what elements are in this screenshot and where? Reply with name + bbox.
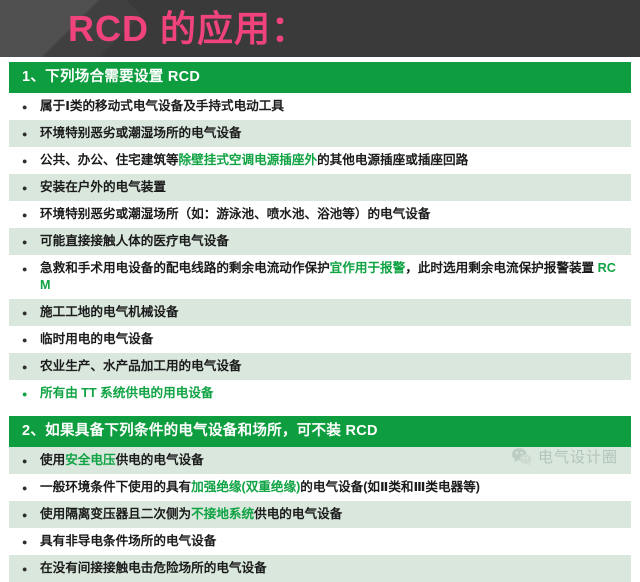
bullet-icon: ● xyxy=(22,211,36,220)
plain-text: 公共、办公、住宅建筑等 xyxy=(40,153,179,167)
bullet-icon: ● xyxy=(22,363,36,372)
bullet-icon: ● xyxy=(22,130,36,139)
list-item-text: 环境特别恶劣或潮湿场所的电气设备 xyxy=(40,125,621,142)
plain-text: 一般环境条件下使用的具有 xyxy=(40,480,191,494)
list-item[interactable]: ●施工工地的电气机械设备 xyxy=(9,299,631,326)
list-item-text: 临时用电的电气设备 xyxy=(40,331,621,348)
title-band: RCD 的应用： xyxy=(0,0,640,57)
highlighted-text: 安全电压 xyxy=(65,453,115,467)
plain-text: 供电的电气设备 xyxy=(254,507,342,521)
plain-text: 具有非导电条件场所的电气设备 xyxy=(40,534,216,548)
bullet-icon: ● xyxy=(22,390,36,399)
plain-text: 安装在户外的电气装置 xyxy=(40,180,166,194)
list-item[interactable]: ●使用隔离变压器且二次侧为不接地系统供电的电气设备 xyxy=(9,501,631,528)
plain-text: 的电气设备(如Ⅱ类和Ⅲ类电器等) xyxy=(300,480,480,494)
list-item-text: 使用安全电压供电的电气设备 xyxy=(40,452,621,469)
list-item[interactable]: ●环境特别恶劣或潮湿场所的电气设备 xyxy=(9,120,631,147)
bullet-icon: ● xyxy=(22,238,36,247)
section-2-list: ●使用安全电压供电的电气设备●一般环境条件下使用的具有加强绝缘(双重绝缘)的电气… xyxy=(9,447,631,582)
plain-text: 属于Ⅰ类的移动式电气设备及手持式电动工具 xyxy=(40,99,284,113)
list-item[interactable]: ●安装在户外的电气装置 xyxy=(9,174,631,201)
bullet-icon: ● xyxy=(22,184,36,193)
list-item[interactable]: ●具有非导电条件场所的电气设备 xyxy=(9,528,631,555)
list-item-text: 公共、办公、住宅建筑等除壁挂式空调电源插座外的其他电源插座或插座回路 xyxy=(40,152,621,169)
list-item-text: 一般环境条件下使用的具有加强绝缘(双重绝缘)的电气设备(如Ⅱ类和Ⅲ类电器等) xyxy=(40,479,621,496)
list-item[interactable]: ●在没有间接接触电击危险场所的电气设备 xyxy=(9,555,631,582)
highlighted-text: 宜作用于报警 xyxy=(330,261,406,275)
list-item[interactable]: ●所有由 TT 系统供电的用电设备 xyxy=(9,380,631,407)
list-item[interactable]: ●临时用电的电气设备 xyxy=(9,326,631,353)
plain-text: 可能直接接触人体的医疗电气设备 xyxy=(40,234,229,248)
bullet-icon: ● xyxy=(22,538,36,547)
list-item-text: 可能直接接触人体的医疗电气设备 xyxy=(40,233,621,250)
bullet-icon: ● xyxy=(22,565,36,574)
plain-text: 环境特别恶劣或潮湿场所（如：游泳池、喷水池、浴池等）的电气设备 xyxy=(40,207,430,221)
list-item-text: 安装在户外的电气装置 xyxy=(40,179,621,196)
list-item-text: 在没有间接接触电击危险场所的电气设备 xyxy=(40,560,621,577)
bullet-icon: ● xyxy=(22,511,36,520)
plain-text: 临时用电的电气设备 xyxy=(40,332,153,346)
plain-text: 的其他电源插座或插座回路 xyxy=(317,153,468,167)
plain-text: 施工工地的电气机械设备 xyxy=(40,305,179,319)
list-item[interactable]: ●急救和手术用电设备的配电线路的剩余电流动作保护宜作用于报警，此时选用剩余电流保… xyxy=(9,255,631,299)
list-item-text: 属于Ⅰ类的移动式电气设备及手持式电动工具 xyxy=(40,98,621,115)
page-title: RCD 的应用： xyxy=(68,2,308,56)
list-item[interactable]: ●农业生产、水产品加工用的电气设备 xyxy=(9,353,631,380)
plain-text: 急救和手术用电设备的配电线路的剩余电流动作保护 xyxy=(40,261,330,275)
plain-text: 供电的电气设备 xyxy=(116,453,204,467)
list-item[interactable]: ●属于Ⅰ类的移动式电气设备及手持式电动工具 xyxy=(9,93,631,120)
list-item[interactable]: ●使用安全电压供电的电气设备 xyxy=(9,447,631,474)
highlighted-text: 加强绝缘(双重绝缘) xyxy=(191,480,300,494)
list-item-text: 施工工地的电气机械设备 xyxy=(40,304,621,321)
list-item-text: 所有由 TT 系统供电的用电设备 xyxy=(40,385,621,402)
list-item-text: 农业生产、水产品加工用的电气设备 xyxy=(40,358,621,375)
sections-container: 1、下列场合需要设置 RCD●属于Ⅰ类的移动式电气设备及手持式电动工具●环境特别… xyxy=(9,62,631,582)
list-item[interactable]: ●可能直接接触人体的医疗电气设备 xyxy=(9,228,631,255)
plain-text: 环境特别恶劣或潮湿场所的电气设备 xyxy=(40,126,242,140)
list-item-text: 使用隔离变压器且二次侧为不接地系统供电的电气设备 xyxy=(40,506,621,523)
highlighted-text: 除壁挂式空调电源插座外 xyxy=(179,153,318,167)
bullet-icon: ● xyxy=(22,265,36,274)
bullet-icon: ● xyxy=(22,157,36,166)
list-item-text: 具有非导电条件场所的电气设备 xyxy=(40,533,621,550)
list-item[interactable]: ●公共、办公、住宅建筑等除壁挂式空调电源插座外的其他电源插座或插座回路 xyxy=(9,147,631,174)
highlighted-text: 所有由 TT 系统供电的用电设备 xyxy=(40,386,214,400)
highlighted-text: 不接地系统 xyxy=(191,507,254,521)
bullet-icon: ● xyxy=(22,457,36,466)
bullet-icon: ● xyxy=(22,309,36,318)
section-header-1: 1、下列场合需要设置 RCD xyxy=(9,62,631,93)
plain-text: 使用隔离变压器且二次侧为 xyxy=(40,507,191,521)
section-header-2: 2、如果具备下列条件的电气设备和场所，可不装 RCD xyxy=(9,416,631,447)
plain-text: 使用 xyxy=(40,453,65,467)
plain-text: ，此时选用剩余电流保护报警装置 xyxy=(405,261,597,275)
section-1-list: ●属于Ⅰ类的移动式电气设备及手持式电动工具●环境特别恶劣或潮湿场所的电气设备●公… xyxy=(9,93,631,407)
slide-body: 1、下列场合需要设置 RCD●属于Ⅰ类的移动式电气设备及手持式电动工具●环境特别… xyxy=(0,57,640,480)
bullet-icon: ● xyxy=(22,336,36,345)
plain-text: 农业生产、水产品加工用的电气设备 xyxy=(40,359,242,373)
slide-root: RCD 的应用： 1、下列场合需要设置 RCD●属于Ⅰ类的移动式电气设备及手持式… xyxy=(0,0,640,480)
list-item-text: 急救和手术用电设备的配电线路的剩余电流动作保护宜作用于报警，此时选用剩余电流保护… xyxy=(40,260,621,294)
section-gap xyxy=(9,407,631,416)
bullet-icon: ● xyxy=(22,484,36,493)
plain-text: 在没有间接接触电击危险场所的电气设备 xyxy=(40,561,267,575)
bullet-icon: ● xyxy=(22,103,36,112)
list-item[interactable]: ●环境特别恶劣或潮湿场所（如：游泳池、喷水池、浴池等）的电气设备 xyxy=(9,201,631,228)
list-item-text: 环境特别恶劣或潮湿场所（如：游泳池、喷水池、浴池等）的电气设备 xyxy=(40,206,621,223)
list-item[interactable]: ●一般环境条件下使用的具有加强绝缘(双重绝缘)的电气设备(如Ⅱ类和Ⅲ类电器等) xyxy=(9,474,631,501)
